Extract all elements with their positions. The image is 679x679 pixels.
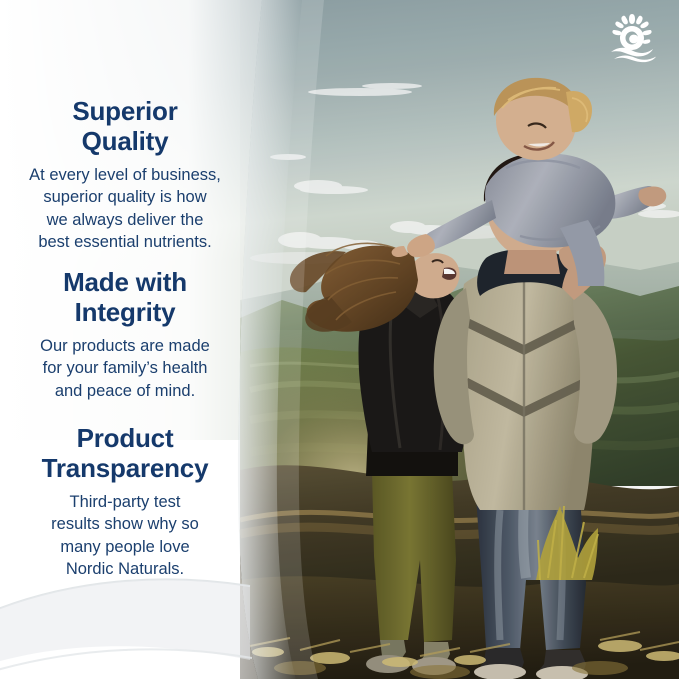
heading-line: Product [77,423,174,453]
heading-line: Integrity [75,297,176,327]
body-line: for your family’s health [43,359,208,377]
body-line: Nordic Naturals. [66,560,184,578]
body-line: many people love [60,538,189,556]
heading-line: Made with [63,267,187,297]
body-line: superior quality is how [43,188,206,206]
heading-line: Superior [72,96,177,126]
messaging-column: Superior Quality At every level of busin… [0,0,250,679]
body-line: we always deliver the [47,211,204,229]
body-line: Our products are made [40,337,210,355]
value-block-made-with-integrity: Made with Integrity Our products are mad… [0,267,250,402]
body-line: Third-party test [70,493,181,511]
advertisement-card: Superior Quality At every level of busin… [0,0,679,679]
body-line: At every level of business, [29,166,221,184]
block-heading: Product Transparency [0,423,250,484]
body-line: and peace of mind. [55,382,195,400]
block-body: Third-party test results show why so man… [0,491,250,581]
heading-line: Transparency [42,453,209,483]
block-heading: Superior Quality [0,96,250,157]
block-heading: Made with Integrity [0,267,250,328]
block-body: Our products are made for your family’s … [0,335,250,402]
body-line: results show why so [51,515,199,533]
heading-line: Quality [82,126,169,156]
sun-waves-logo-icon [605,12,663,64]
value-block-superior-quality: Superior Quality At every level of busin… [0,96,250,254]
body-line: best essential nutrients. [38,233,211,251]
value-block-product-transparency: Product Transparency Third-party test re… [0,423,250,581]
block-body: At every level of business, superior qua… [0,164,250,254]
